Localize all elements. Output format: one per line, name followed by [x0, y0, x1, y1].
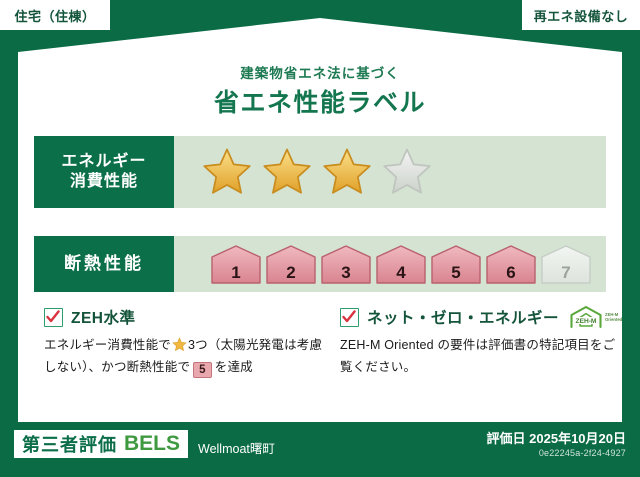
- insulation-house-group: 1234567: [174, 236, 606, 292]
- bels-badge: 第三者評価 BELS: [14, 430, 188, 458]
- tag-building-type: 住宅（住棟）: [0, 0, 110, 30]
- rating-label-insulation: 断熱性能: [34, 236, 174, 292]
- star-icon-filled: [260, 146, 314, 198]
- building-name: Wellmoat曙町: [198, 438, 275, 457]
- star-icon-filled: [320, 146, 374, 198]
- star-icon: [172, 337, 187, 352]
- star-icon-empty: [380, 146, 434, 198]
- insulation-level-badge: 5: [193, 362, 212, 378]
- rating-label-energy-line1: エネルギー: [61, 152, 146, 172]
- note-zeh-title: ZEH水準: [71, 306, 136, 328]
- note-zeh-text-3: を達成: [215, 360, 253, 374]
- insulation-level-number: 7: [540, 264, 592, 281]
- zeh-m-logo-subtext: ZEH-M Oriented: [605, 312, 622, 323]
- insulation-level-1: 1: [210, 244, 262, 284]
- page-title: 省エネ性能ラベル: [18, 83, 622, 119]
- tag-building-type-label: 住宅（住棟）: [14, 6, 95, 25]
- evaluation-id: 0e22245a-2f24-4927: [539, 448, 626, 458]
- rating-label-energy: エネルギー 消費性能: [34, 136, 174, 208]
- insulation-level-4: 4: [375, 244, 427, 284]
- note-net-zero-title: ネット・ゼロ・エネルギー: [367, 306, 559, 328]
- bels-jp-label: 第三者評価: [22, 431, 117, 457]
- insulation-level-number: 2: [265, 264, 317, 281]
- insulation-level-number: 1: [210, 264, 262, 281]
- bels-en-label: BELS: [124, 432, 180, 456]
- note-zeh-body: エネルギー消費性能で3つ（太陽光発電は考慮しない）、かつ断熱性能で5を達成: [44, 335, 328, 378]
- note-zeh: ZEH水準 エネルギー消費性能で3つ（太陽光発電は考慮しない）、かつ断熱性能で5…: [44, 306, 328, 378]
- note-net-zero-energy: ネット・ゼロ・エネルギー ZEH-M ZEH-M Oriented: [340, 306, 624, 378]
- note-zeh-text-1: エネルギー消費性能で: [44, 338, 171, 352]
- rating-label-insulation-text: 断熱性能: [64, 253, 144, 274]
- tag-renewable-energy: 再エネ設備なし: [522, 0, 640, 30]
- insulation-level-number: 6: [485, 264, 537, 281]
- label-card: 建築物省エネ法に基づく 省エネ性能ラベル エネルギー 消費性能 断熱性能 123…: [18, 18, 622, 422]
- rating-label-energy-line2: 消費性能: [70, 172, 138, 192]
- tag-renewable-energy-label: 再エネ設備なし: [534, 6, 629, 25]
- star-icon-filled: [200, 146, 254, 198]
- zeh-m-logo-text: ZEH-M: [576, 318, 597, 325]
- rating-row-insulation: 断熱性能 1234567: [34, 236, 606, 292]
- note-net-zero-body: ZEH-M Oriented の要件は評価書の特記項目をご覧ください。: [340, 335, 624, 378]
- zeh-m-sub-line1: ZEH-M: [605, 312, 618, 317]
- page-subtitle: 建築物省エネ法に基づく: [18, 62, 622, 82]
- check-icon: [44, 308, 63, 327]
- insulation-level-6: 6: [485, 244, 537, 284]
- zeh-m-logo: ZEH-M ZEH-M Oriented: [569, 305, 622, 329]
- insulation-level-5: 5: [430, 244, 482, 284]
- check-icon: [340, 308, 359, 327]
- rating-row-energy: エネルギー 消費性能: [34, 136, 606, 208]
- insulation-level-7: 7: [540, 244, 592, 284]
- energy-label: 住宅（住棟） 再エネ設備なし 建築物省エネ法に基づく 省エネ性能ラベル エネルギ…: [0, 0, 640, 477]
- insulation-level-number: 5: [430, 264, 482, 281]
- insulation-level-2: 2: [265, 244, 317, 284]
- footer: 第三者評価 BELS Wellmoat曙町 評価日 2025年10月20日 0e…: [0, 422, 640, 477]
- evaluation-date: 評価日 2025年10月20日: [487, 428, 626, 447]
- insulation-level-number: 4: [375, 264, 427, 281]
- energy-star-group: [174, 136, 606, 208]
- zeh-m-sub-line2: Oriented: [605, 317, 622, 322]
- insulation-level-number: 3: [320, 264, 372, 281]
- insulation-level-3: 3: [320, 244, 372, 284]
